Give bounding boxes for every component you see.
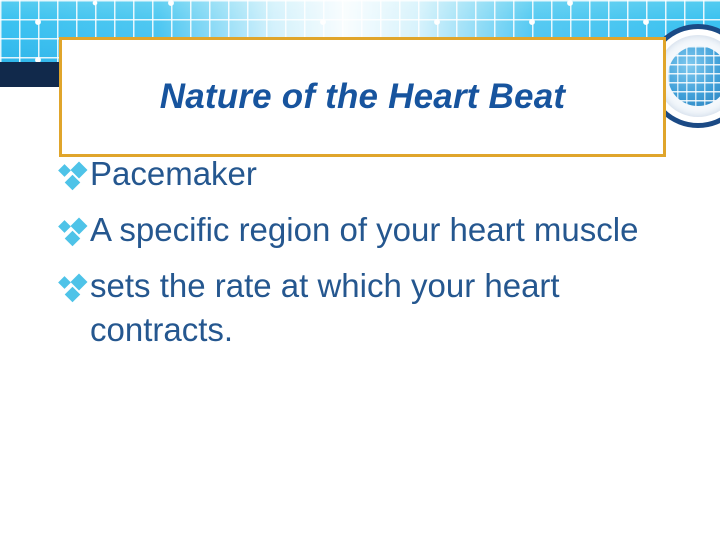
list-item: A specific region of your heart muscle xyxy=(58,208,698,258)
emblem-globe-sphere xyxy=(668,46,720,106)
presentation-slide: Nature of the Heart Beat Pacemaker A spe… xyxy=(0,0,720,540)
diamond-cluster-bullet-icon xyxy=(58,158,90,202)
bullet-text: sets the rate at which your heart contra… xyxy=(90,264,698,351)
slide-title: Nature of the Heart Beat xyxy=(150,77,575,117)
diamond-cluster-bullet-icon xyxy=(58,214,90,258)
diamond-cluster-bullet-icon xyxy=(58,270,90,314)
bullet-text: Pacemaker xyxy=(90,152,698,196)
list-item: Pacemaker xyxy=(58,152,698,202)
slide-title-box: Nature of the Heart Beat xyxy=(59,37,666,157)
list-item: sets the rate at which your heart contra… xyxy=(58,264,698,351)
slide-body-list: Pacemaker A specific region of your hear… xyxy=(58,152,698,357)
bullet-text: A specific region of your heart muscle xyxy=(90,208,698,252)
